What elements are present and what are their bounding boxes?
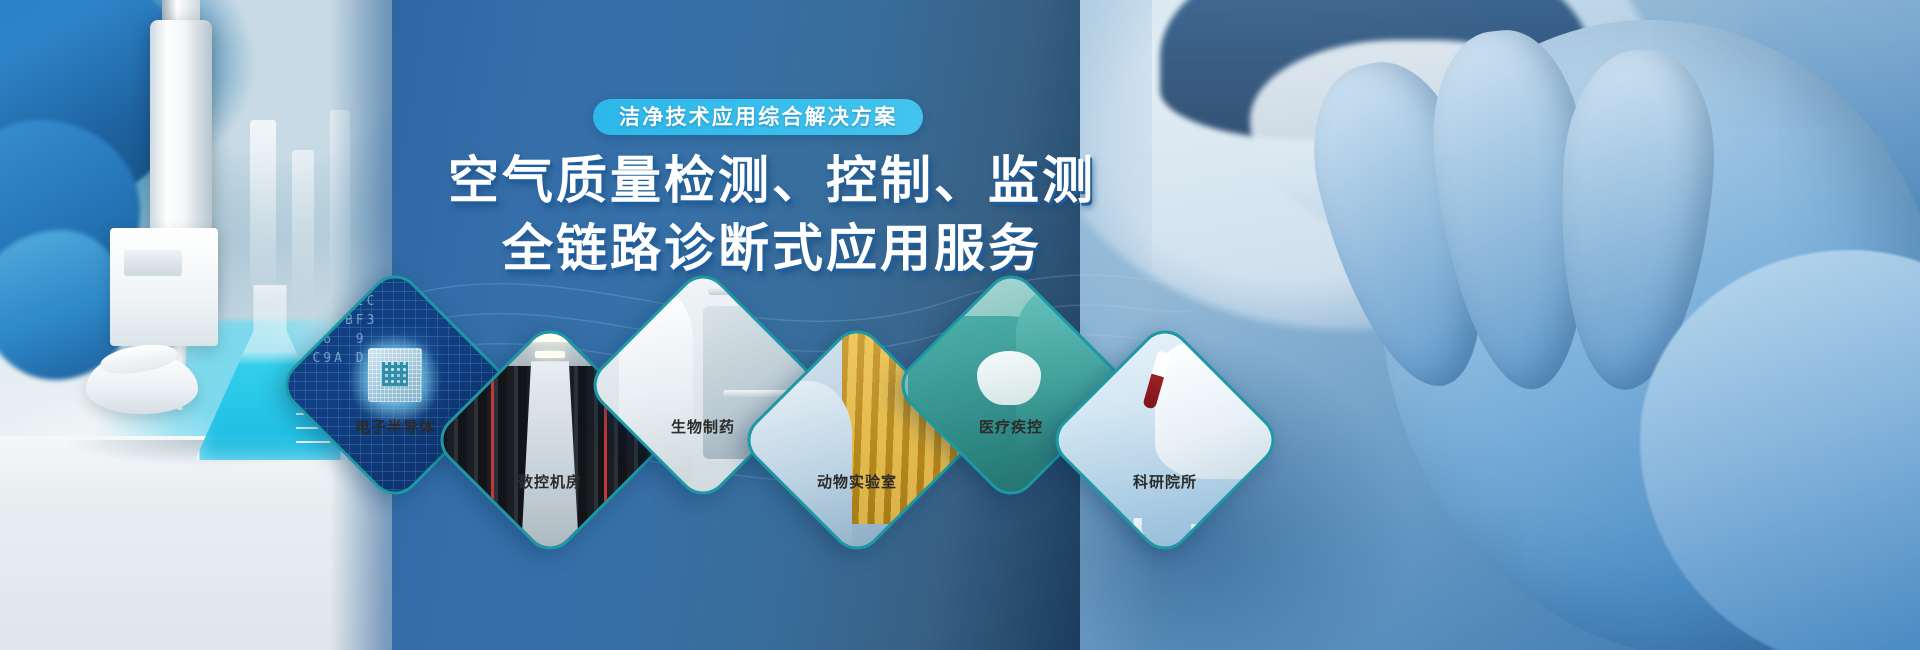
industry-card-label: 动物实验室 xyxy=(734,471,980,492)
surgical-glove-icon xyxy=(977,351,1041,405)
industry-card-row: 5926 E2C7 8 BF37 936 9B8 C9A D1BF 电子半导体 … xyxy=(0,0,1920,650)
beaker-1 xyxy=(1067,528,1089,558)
hero-banner: 洁净技术应用综合解决方案 空气质量检测、控制、监测 全链路诊断式应用服务 592… xyxy=(0,0,1920,650)
datacenter-aisle xyxy=(520,361,579,560)
cpu-die-icon xyxy=(368,348,422,402)
industry-card-label: 数控机房 xyxy=(427,471,673,492)
rack-cable-1 xyxy=(491,376,494,524)
ceiling-light-1 xyxy=(530,334,569,341)
test-tube-icon xyxy=(1045,320,1285,560)
ceiling-light-2 xyxy=(535,351,565,357)
flask-2 xyxy=(1180,524,1210,558)
researcher-arm xyxy=(1155,342,1283,480)
flask-1 xyxy=(1121,518,1155,558)
card-diamond-frame xyxy=(1045,320,1285,560)
industry-card-research[interactable]: 科研院所 xyxy=(1080,355,1250,525)
industry-card-label: 科研院所 xyxy=(1042,471,1288,492)
beaker-2 xyxy=(1229,532,1249,558)
pharma-pipe-1 xyxy=(708,287,811,295)
pharma-worker-figure xyxy=(619,292,693,484)
